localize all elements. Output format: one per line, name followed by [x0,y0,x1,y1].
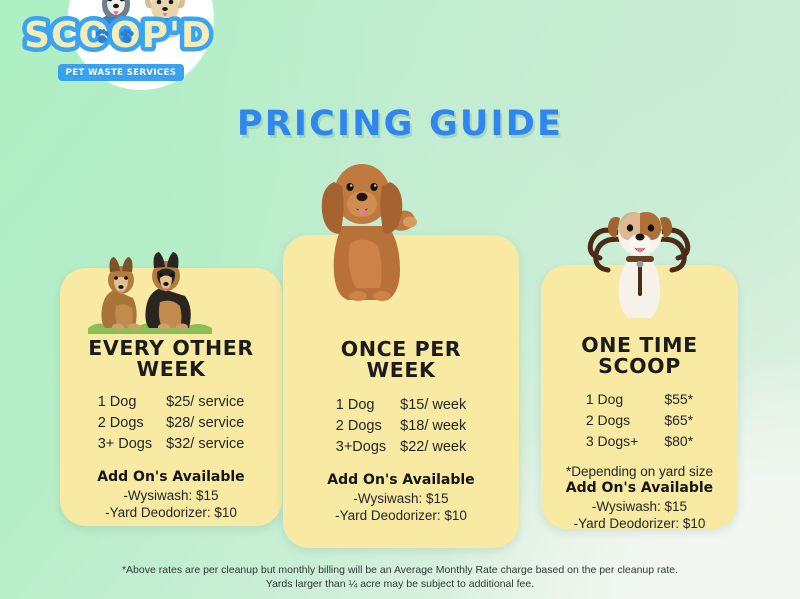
addon-item: -Wysiwash: $15 [549,498,730,515]
price-qty: 1 Dog [98,392,166,413]
table-row: 1 Dog $25/ service [98,392,245,413]
price-table: 1 Dog $25/ service 2 Dogs $28/ service 3… [98,392,245,455]
footer-line-1: *Above rates are per cleanup but monthly… [0,563,800,577]
price-table: 1 Dog $15/ week 2 Dogs $18/ week 3+Dogs … [336,395,467,458]
table-row: 3+ Dogs $32/ service [98,434,245,455]
addon-item: -Yard Deodorizer: $10 [549,515,730,532]
price-qty: 1 Dog [586,389,665,410]
price-qty: 3+Dogs [336,437,400,458]
price-qty: 1 Dog [336,395,400,416]
price-amount: $32/ service [166,434,244,455]
table-row: 3+Dogs $22/ week [336,437,467,458]
svg-text:SCOOP'D: SCOOP'D [24,15,212,56]
addon-item: -Wysiwash: $15 [291,490,511,507]
price-qty: 2 Dogs [586,410,665,431]
table-row: 1 Dog $55* [586,389,693,410]
addons-title: Add On's Available [68,469,274,485]
table-row: 1 Dog $15/ week [336,395,467,416]
card-title: ONE TIME SCOOP [549,335,730,377]
yard-size-note: *Depending on yard size [549,464,730,479]
table-row: 2 Dogs $28/ service [98,413,245,434]
price-amount: $55* [664,389,693,410]
price-table: 1 Dog $55* 2 Dogs $65* 3 Dogs+ $80* [586,389,693,452]
price-qty: 2 Dogs [98,413,166,434]
addons-title: Add On's Available [291,472,511,488]
card-title: EVERY OTHER WEEK [68,338,274,380]
addons-title: Add On's Available [549,480,730,496]
footer-disclaimer: *Above rates are per cleanup but monthly… [0,563,800,592]
logo-tagline: PET WASTE SERVICES [58,64,184,81]
logo-wordmark: SCOOP'D SCOOP'D [22,14,214,62]
addon-item: -Yard Deodorizer: $10 [291,507,511,524]
goldendoodle-puppy-photo [306,152,432,302]
price-qty: 2 Dogs [336,416,400,437]
addons-block: Add On's Available -Wysiwash: $15 -Yard … [68,469,274,521]
pricing-guide-flyer: SCOOP'D SCOOP'D PET WASTE SERVICES PRICI… [0,0,800,599]
price-amount: $15/ week [400,395,466,416]
jack-russell-with-leash-photo [586,200,694,318]
price-amount: $28/ service [166,413,244,434]
price-qty: 3+ Dogs [98,434,166,455]
price-amount: $65* [664,410,693,431]
price-amount: $80* [664,431,693,452]
addon-item: -Wysiwash: $15 [68,487,274,504]
addon-item: -Yard Deodorizer: $10 [68,504,274,521]
table-row: 2 Dogs $18/ week [336,416,467,437]
price-amount: $22/ week [400,437,466,458]
page-title: PRICING GUIDE [0,104,800,144]
price-amount: $18/ week [400,416,466,437]
table-row: 3 Dogs+ $80* [586,431,693,452]
table-row: 2 Dogs $65* [586,410,693,431]
addons-block: Add On's Available -Wysiwash: $15 -Yard … [291,472,511,524]
footer-line-2: Yards larger than ¼ acre may be subject … [0,577,800,591]
brand-logo[interactable]: SCOOP'D SCOOP'D PET WASTE SERVICES [16,0,216,114]
price-amount: $25/ service [166,392,244,413]
two-german-shepherds-photo [88,246,212,334]
addons-block: Add On's Available -Wysiwash: $15 -Yard … [549,480,730,532]
price-qty: 3 Dogs+ [586,431,665,452]
card-title: ONCE PER WEEK [291,339,511,381]
